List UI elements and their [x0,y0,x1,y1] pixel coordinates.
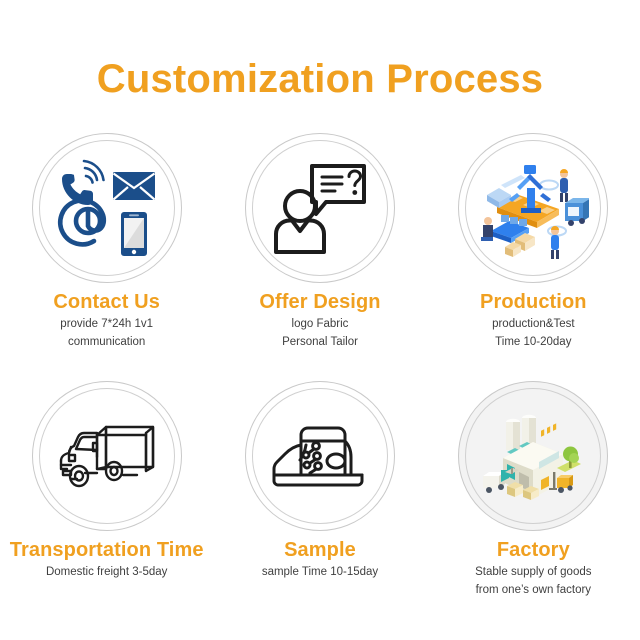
step-subtitle-line-1: logo Fabric [213,316,426,333]
step-card-offer-design[interactable]: Offer Design logo Fabric Personal Tailor [213,133,426,381]
step-card-transportation-time[interactable]: Transportation Time Domestic freight 3-5… [0,381,213,629]
contact-icons-svg [55,156,159,260]
infographic-page: Customization Process [0,0,640,640]
step-badge-sample [245,381,395,531]
process-steps-grid: Contact Us provide 7*24h 1v1 communicati… [0,133,640,629]
step-title: Offer Design [213,290,426,315]
boot-shoe-icon [268,415,372,497]
step-subtitle-line-1: provide 7*24h 1v1 [0,316,213,333]
isometric-factory-building-icon [477,406,589,506]
step-subtitle-line-2: Time 10-20day [427,334,640,351]
offer-design-icon-group [264,152,376,264]
step-card-contact-us[interactable]: Contact Us provide 7*24h 1v1 communicati… [0,133,213,381]
envelope-icon [113,172,155,200]
step-badge-production [458,133,608,283]
step-subtitle-line-1: Stable supply of goods [427,564,640,581]
step-caption-offer-design: Offer Design logo Fabric Personal Tailor [213,290,426,350]
step-subtitle-line-1: sample Time 10-15day [213,564,426,581]
step-caption-contact-us: Contact Us provide 7*24h 1v1 communicati… [0,290,213,350]
transportation-icon-group [51,400,163,512]
isometric-factory-robot-arm-icon [477,155,589,261]
step-subtitle-line-2: communication [0,334,213,351]
contact-icons-group [51,152,163,264]
step-subtitle-line-2: Personal Tailor [213,334,426,351]
step-subtitle-line-1: Domestic freight 3-5day [0,564,213,581]
page-title: Customization Process [0,57,640,101]
step-badge-transportation-time [32,381,182,531]
step-title: Transportation Time [0,538,213,563]
step-subtitle-line-2: from one’s own factory [427,582,640,599]
step-caption-sample: Sample sample Time 10-15day [213,538,426,581]
step-card-production[interactable]: Production production&Test Time 10-20day [427,133,640,381]
step-title: Production [427,290,640,315]
factory-icon-group [477,400,589,512]
sample-icon-group [264,400,376,512]
production-icon-group [477,152,589,264]
step-card-sample[interactable]: Sample sample Time 10-15day [213,381,426,629]
step-badge-factory [458,381,608,531]
step-title: Factory [427,538,640,563]
step-subtitle-line-1: production&Test [427,316,640,333]
delivery-truck-icon [51,413,163,499]
step-caption-factory: Factory Stable supply of goods from one’… [427,538,640,598]
step-caption-production: Production production&Test Time 10-20day [427,290,640,350]
step-badge-contact-us [32,133,182,283]
step-card-factory[interactable]: Factory Stable supply of goods from one’… [427,381,640,629]
step-title: Sample [213,538,426,563]
person-with-question-speech-bubble-icon [268,160,372,256]
step-title: Contact Us [0,290,213,315]
step-caption-transportation-time: Transportation Time Domestic freight 3-5… [0,538,213,581]
step-badge-offer-design [245,133,395,283]
smartphone-icon [121,212,147,256]
at-sign-icon [60,200,104,244]
